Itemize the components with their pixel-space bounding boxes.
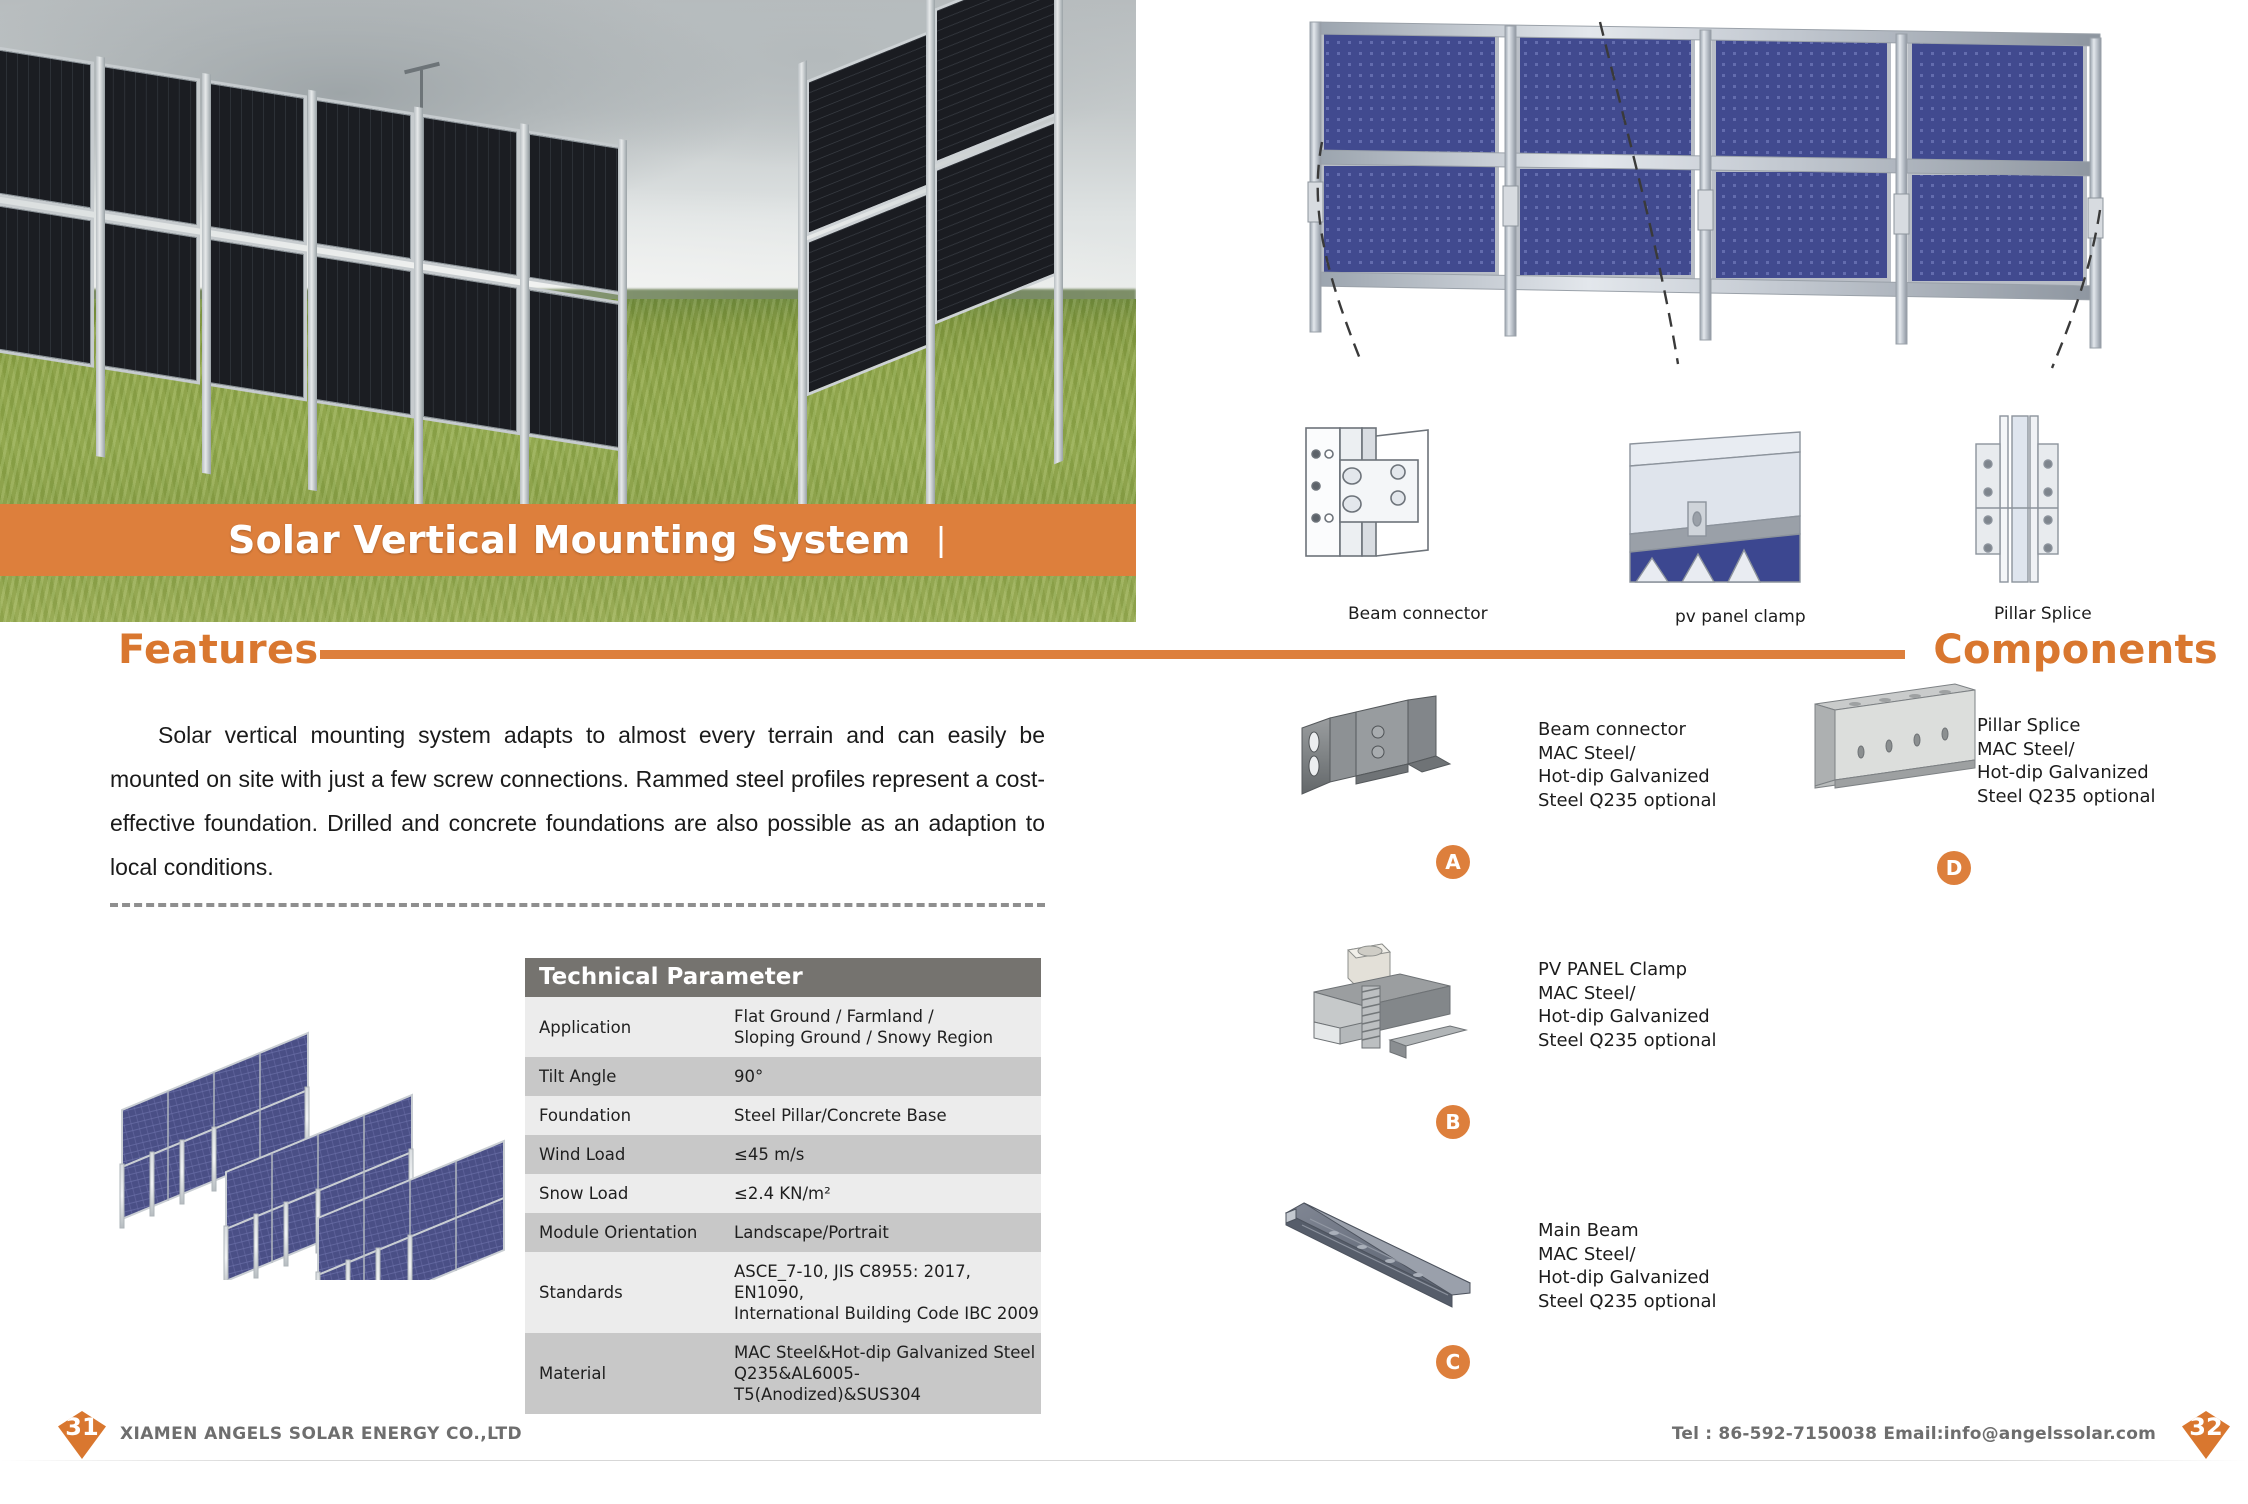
pv-panel-clamp-icon xyxy=(1290,930,1490,1080)
component-spec: Pillar Splice MAC Steel/ Hot-dip Galvani… xyxy=(1977,714,2156,808)
table-row: Module Orientation Landscape/Portrait xyxy=(525,1213,1041,1252)
table-row: Application Flat Ground / Farmland / Slo… xyxy=(525,997,1041,1057)
component-badge-c: C xyxy=(1436,1345,1470,1379)
row-key: Application xyxy=(525,997,734,1057)
array-iso-svg xyxy=(100,1030,530,1280)
row-value: ASCE_7-10, JIS C8955: 2017, EN1090, Inte… xyxy=(734,1252,1041,1333)
component-spec: Beam connector MAC Steel/ Hot-dip Galvan… xyxy=(1538,718,1717,812)
row-key: Material xyxy=(525,1333,734,1414)
technical-parameter-table: Technical Parameter Application Flat Gro… xyxy=(525,958,1041,1414)
row-key: Snow Load xyxy=(525,1174,734,1213)
heading-divider-rule xyxy=(320,650,1905,659)
pillar-splice-icon xyxy=(1805,676,1985,816)
array-svg xyxy=(1300,4,2230,404)
table-row: Foundation Steel Pillar/Concrete Base xyxy=(525,1096,1041,1135)
features-body-text: Solar vertical mounting system adapts to… xyxy=(110,713,1045,889)
row-key: Wind Load xyxy=(525,1135,734,1174)
dashed-divider xyxy=(110,903,1045,907)
page-number-right: 32 xyxy=(2189,1411,2222,1440)
title-separator: | xyxy=(937,521,946,560)
table-row: Snow Load ≤2.4 KN/m² xyxy=(525,1174,1041,1213)
table-header-row: Technical Parameter xyxy=(525,958,1041,997)
array-iso-illustration xyxy=(100,1030,530,1280)
table-row: Standards ASCE_7-10, JIS C8955: 2017, EN… xyxy=(525,1252,1041,1333)
caption-beam-connector: Beam connector xyxy=(1348,604,1488,624)
row-value: 90° xyxy=(734,1057,1041,1096)
hero-photo: Solar Vertical Mounting System | xyxy=(0,0,1136,622)
component-badge-a: A xyxy=(1436,845,1470,879)
table-row: Material MAC Steel&Hot-dip Galvanized St… xyxy=(525,1333,1041,1414)
component-card-beam-connector: Beam connector MAC Steel/ Hot-dip Galvan… xyxy=(1290,690,1810,890)
row-value: Steel Pillar/Concrete Base xyxy=(734,1096,1041,1135)
row-key: Foundation xyxy=(525,1096,734,1135)
component-spec: Main Beam MAC Steel/ Hot-dip Galvanized … xyxy=(1538,1219,1717,1313)
component-badge-d: D xyxy=(1937,851,1971,885)
component-spec: PV PANEL Clamp MAC Steel/ Hot-dip Galvan… xyxy=(1538,958,1717,1052)
row-key: Module Orientation xyxy=(525,1213,734,1252)
row-key: Tilt Angle xyxy=(525,1057,734,1096)
row-value: Flat Ground / Farmland / Sloping Ground … xyxy=(734,997,1041,1057)
brochure-page: Solar Vertical Mounting System | xyxy=(0,0,2248,1504)
features-heading: Features xyxy=(118,627,319,673)
table-header-cell: Technical Parameter xyxy=(525,958,1041,997)
table-row: Wind Load ≤45 m/s xyxy=(525,1135,1041,1174)
array-technical-drawing xyxy=(1300,4,2230,404)
caption-pv-panel-clamp: pv panel clamp xyxy=(1675,607,1806,627)
page-number-left: 31 xyxy=(65,1411,98,1440)
component-card-main-beam: Main Beam MAC Steel/ Hot-dip Galvanized … xyxy=(1280,1195,1800,1395)
contact-info: Tel : 86-592-7150038 Email:info@angelsso… xyxy=(1672,1424,2156,1444)
component-card-pv-panel-clamp: PV PANEL Clamp MAC Steel/ Hot-dip Galvan… xyxy=(1290,930,1810,1140)
detail-callout-svg xyxy=(1300,408,2248,588)
component-badge-b: B xyxy=(1436,1105,1470,1139)
table-row: Tilt Angle 90° xyxy=(525,1057,1041,1096)
hero-title-bar: Solar Vertical Mounting System | xyxy=(0,504,1136,576)
row-value: ≤2.4 KN/m² xyxy=(734,1174,1041,1213)
row-value: ≤45 m/s xyxy=(734,1135,1041,1174)
footer-rule xyxy=(0,1460,2248,1461)
row-key: Standards xyxy=(525,1252,734,1333)
row-value: Landscape/Portrait xyxy=(734,1213,1041,1252)
detail-callouts: Beam connector pv panel clamp Pillar Spl… xyxy=(1300,408,2248,623)
components-heading: Components xyxy=(1933,627,2218,673)
main-beam-icon xyxy=(1280,1195,1500,1315)
caption-pillar-splice: Pillar Splice xyxy=(1994,604,2092,624)
beam-connector-icon xyxy=(1290,690,1510,830)
component-card-pillar-splice: Pillar Splice MAC Steel/ Hot-dip Galvani… xyxy=(1805,676,2245,886)
company-name: XIAMEN ANGELS SOLAR ENERGY CO.,LTD xyxy=(120,1424,522,1444)
row-value: MAC Steel&Hot-dip Galvanized Steel Q235&… xyxy=(734,1333,1041,1414)
page-title: Solar Vertical Mounting System xyxy=(228,518,911,562)
